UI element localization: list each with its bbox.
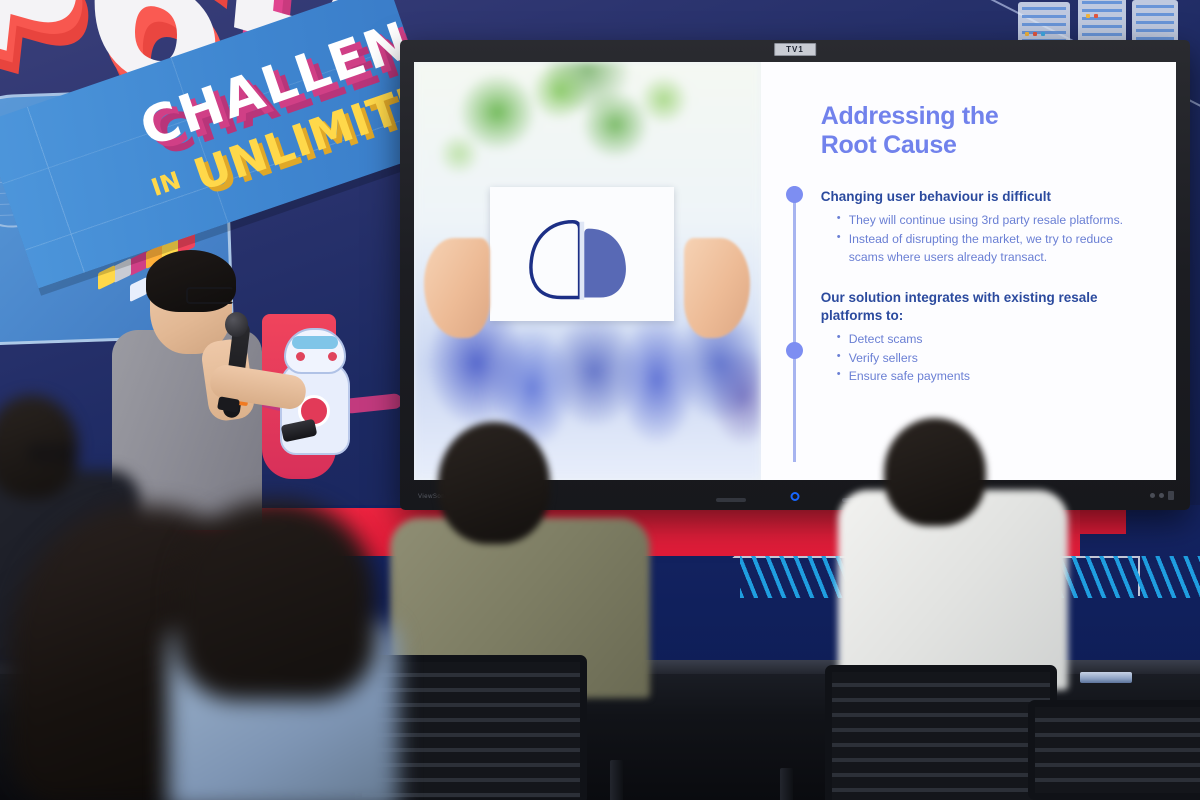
microphone-head — [225, 312, 248, 337]
port-hdmi-icon — [1159, 493, 1164, 498]
slide-block-1: Changing user behaviour is difficult The… — [775, 188, 1142, 267]
port-usb-icon — [1150, 493, 1155, 498]
list-item: They will continue using 3rd party resal… — [837, 211, 1142, 230]
presentation-slide: Addressing the Root Cause Changing user … — [414, 62, 1176, 480]
port-slot-icon — [1168, 491, 1174, 500]
paper-cutout-card — [490, 187, 674, 321]
presenter-glasses — [186, 287, 234, 304]
block-heading-1: Changing user behaviour is difficult — [821, 188, 1142, 206]
desk-device[interactable] — [1080, 672, 1132, 683]
slide-title: Addressing the Root Cause — [775, 102, 1142, 160]
server-rack-graphic-2 — [1078, 0, 1126, 44]
list-item: Verify sellers — [837, 349, 1142, 368]
foreground-left-glasses — [30, 446, 72, 460]
display-port-cluster[interactable] — [1150, 491, 1174, 500]
slide-title-line-2: Root Cause — [821, 131, 1142, 160]
chair-far-right[interactable] — [1028, 700, 1200, 800]
timeline-connector — [793, 186, 796, 462]
display-power-led — [791, 492, 800, 501]
voxel-cube — [98, 265, 115, 290]
display-id-label: TV1 — [774, 43, 816, 56]
slide-text-column: Addressing the Root Cause Changing user … — [761, 62, 1176, 480]
display-ir-sensor — [716, 498, 746, 502]
block-heading-2: Our solution integrates with existing re… — [821, 289, 1142, 325]
red-band-step-1 — [1080, 508, 1126, 534]
cyan-stripe-group-2 — [1060, 556, 1200, 598]
audience-center-head — [438, 422, 550, 544]
list-item: Detect scams — [837, 330, 1142, 349]
voxel-cube — [114, 258, 131, 283]
two-heads-silhouette-icon — [490, 187, 674, 321]
chair-right[interactable] — [825, 665, 1057, 800]
audience-right-head — [884, 418, 986, 526]
block-bullets-1: They will continue using 3rd party resal… — [821, 211, 1142, 267]
presentation-room-scene: P 6 D CHALLENGE IN UNLIMITED — [0, 0, 1200, 800]
foreground-right-hair — [176, 500, 376, 700]
list-item: Ensure safe payments — [837, 367, 1142, 386]
hand-left — [424, 238, 490, 338]
chair-right-leg — [780, 768, 793, 800]
list-item: Instead of disrupting the market, we try… — [837, 230, 1142, 267]
slide-block-2: Our solution integrates with existing re… — [775, 289, 1142, 386]
slide-photograph — [414, 62, 761, 480]
chair-center-leg — [610, 760, 623, 800]
timeline-node-2 — [786, 342, 803, 359]
block-bullets-2: Detect scams Verify sellers Ensure safe … — [821, 330, 1142, 386]
timeline-node-1 — [786, 186, 803, 203]
slide-title-line-1: Addressing the — [821, 102, 1142, 131]
